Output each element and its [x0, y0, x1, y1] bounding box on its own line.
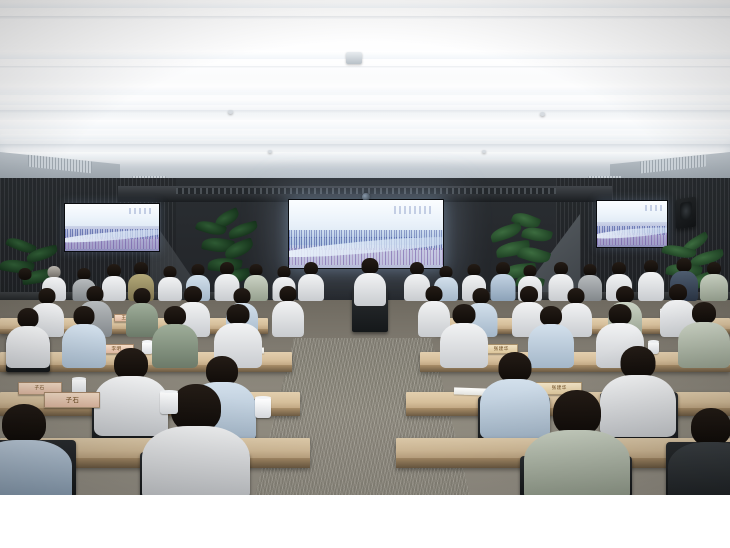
photo-page: 王涛	[0, 0, 730, 548]
photo-bottom-matte	[0, 495, 730, 548]
ceiling-light-strip	[0, 2, 730, 8]
attendee-torso	[354, 273, 386, 306]
smoke-detector-icon	[540, 112, 545, 116]
ceiling-seam	[0, 16, 730, 19]
foreground-attendee	[668, 408, 730, 495]
attendee-head	[540, 306, 562, 326]
attendee-head	[616, 286, 634, 303]
ceiling-light-strip	[0, 100, 730, 105]
attendee-head	[184, 286, 202, 303]
attendee-torso	[524, 430, 630, 495]
placard-text: 张建华	[493, 347, 508, 352]
ceiling-light-strip	[0, 120, 730, 129]
ceiling-seam	[0, 144, 730, 148]
attendee-head	[362, 258, 379, 274]
conference-room-photograph: 王涛	[0, 0, 730, 495]
smoke-detector-icon	[268, 150, 272, 153]
attendee-head	[18, 308, 39, 328]
attendee-head	[164, 306, 186, 326]
plant-leaf	[227, 220, 259, 239]
attendee-head	[677, 258, 692, 272]
foreground-attendee	[142, 384, 250, 495]
left-display-content	[65, 204, 159, 251]
attendee-head	[234, 288, 251, 304]
attendee	[214, 304, 262, 364]
display-watermark-logo	[394, 206, 434, 214]
attendee-head	[472, 288, 489, 304]
display-watermark-logo	[129, 208, 153, 214]
attendee-head	[227, 304, 250, 325]
ceiling-seam	[0, 110, 730, 113]
desk-cup	[255, 398, 271, 418]
right-wall-speaker	[676, 197, 696, 230]
attendee-head	[609, 304, 632, 325]
attendee-head	[39, 288, 56, 304]
ceiling-seam	[0, 66, 730, 68]
placard-text: 子石	[65, 397, 79, 403]
attendee-head	[692, 302, 716, 324]
attendee-torso	[700, 274, 728, 301]
attendee-head	[280, 286, 297, 302]
name-placard-foreground: 子石	[44, 392, 100, 408]
attendee	[678, 302, 730, 364]
attendee-head	[134, 288, 151, 304]
attendee-head	[74, 306, 95, 326]
attendee-torso	[678, 322, 730, 368]
attendee-head	[426, 286, 443, 302]
attendee-head	[453, 304, 476, 325]
foreground-attendee	[524, 390, 630, 495]
plant-leaf	[489, 222, 523, 243]
ceiling-projector-mount	[346, 52, 362, 64]
desk-cup	[160, 392, 178, 414]
attendee-head	[87, 286, 104, 302]
right-display-content	[597, 201, 667, 247]
attendee-head	[2, 404, 46, 444]
display-watermark-logo	[645, 205, 663, 211]
placard-text: 子石	[35, 386, 45, 391]
attendee-torso	[668, 442, 730, 495]
smoke-detector-icon	[228, 110, 233, 114]
attendee-head	[520, 286, 538, 303]
attendee-head	[691, 408, 730, 446]
attendee-torso	[0, 440, 72, 495]
smoke-detector-icon	[482, 150, 486, 153]
attendee	[6, 308, 50, 364]
attendee-torso	[6, 326, 50, 368]
attendee-head	[171, 384, 221, 432]
ceiling	[0, 0, 730, 196]
ceiling-light-strip	[0, 86, 730, 95]
attendee-head	[669, 284, 687, 301]
attendee-torso	[272, 301, 304, 337]
attendee	[272, 286, 304, 334]
front-row-attendee	[354, 258, 386, 304]
foreground-attendee	[0, 404, 72, 495]
ceiling-light-strip	[0, 52, 730, 59]
attendee-torso	[142, 426, 250, 495]
attendee-head	[568, 288, 585, 304]
left-side-display[interactable]	[64, 203, 160, 252]
attendee	[700, 262, 728, 300]
right-side-display[interactable]	[596, 200, 668, 248]
ceiling-light-strip	[0, 134, 730, 139]
display-sky	[289, 200, 443, 231]
